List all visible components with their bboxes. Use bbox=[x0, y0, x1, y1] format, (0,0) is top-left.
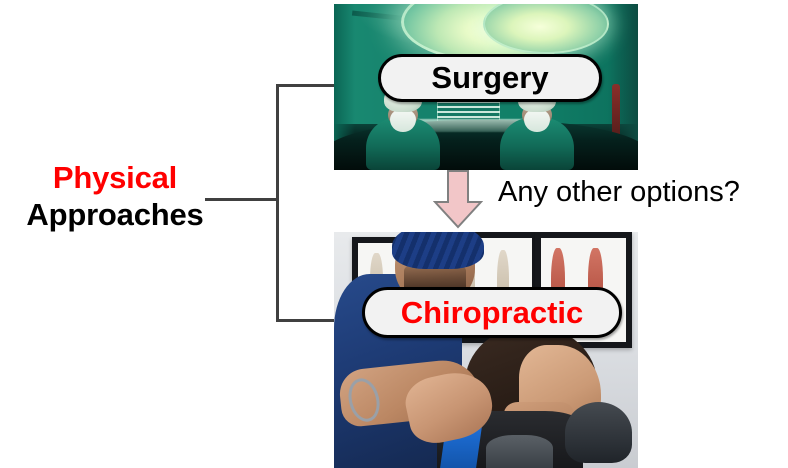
surgery-label-text: Surgery bbox=[431, 60, 548, 96]
category-label: Physical Approaches bbox=[20, 160, 210, 233]
clinic-stool bbox=[565, 402, 632, 463]
treatment-chair-back bbox=[486, 435, 553, 468]
bracket-stem-line bbox=[205, 198, 279, 201]
bracket-vertical-line bbox=[276, 84, 279, 322]
chiropractic-label-text: Chiropractic bbox=[401, 295, 584, 331]
chiropractic-photo bbox=[334, 232, 638, 468]
category-label-line2: Approaches bbox=[20, 197, 210, 234]
surgery-label-pill[interactable]: Surgery bbox=[378, 54, 602, 102]
question-text: Any other options? bbox=[498, 176, 740, 209]
bracket-arm-bottom-line bbox=[276, 319, 340, 322]
chiropractor-turban bbox=[392, 232, 484, 269]
category-label-line1: Physical bbox=[20, 160, 210, 197]
bracket-connector bbox=[205, 84, 340, 326]
bracket-arm-top-line bbox=[276, 84, 340, 87]
down-arrow-icon bbox=[433, 169, 483, 229]
chiropractic-label-pill[interactable]: Chiropractic bbox=[362, 287, 622, 338]
